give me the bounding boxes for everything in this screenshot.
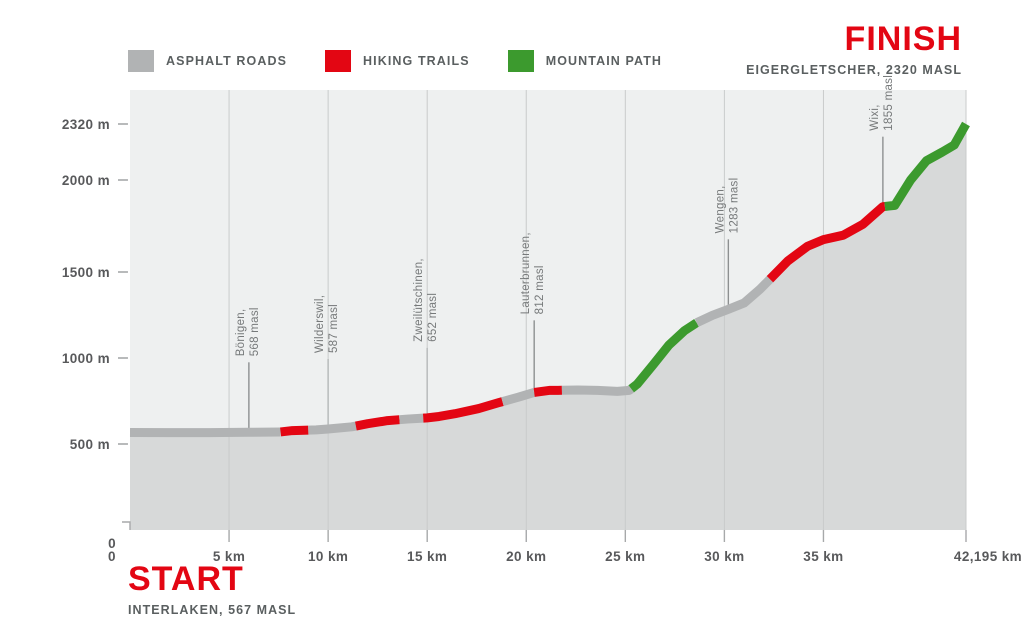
profile-segment-hiking bbox=[281, 430, 309, 432]
x-tick-label: 35 km bbox=[803, 549, 843, 564]
profile-segment-asphalt bbox=[399, 418, 423, 420]
poi-name: Bönigen, bbox=[235, 308, 247, 356]
elevation-profile-infographic: ASPHALT ROADS HIKING TRAILS MOUNTAIN PAT… bbox=[0, 0, 1024, 643]
x-tick-label: 25 km bbox=[605, 549, 645, 564]
profile-segment-asphalt bbox=[308, 426, 356, 430]
x-tick-label: 42,195 km bbox=[954, 549, 1022, 564]
y-tick-label: 2320 m bbox=[62, 117, 110, 132]
poi-name: Wilderswil, bbox=[314, 295, 326, 353]
elevation-chart: 0500 m1000 m1500 m2000 m2320 m 05 km10 k… bbox=[0, 0, 1024, 643]
x-axis: 05 km10 km15 km20 km25 km30 km35 km42,19… bbox=[108, 530, 1022, 564]
profile-segment-asphalt bbox=[562, 389, 631, 392]
x-tick-label: 5 km bbox=[213, 549, 245, 564]
x-tick-label: 15 km bbox=[407, 549, 447, 564]
y-tick-label: 1500 m bbox=[62, 265, 110, 280]
poi-elevation: 568 masl bbox=[249, 307, 261, 356]
x-tick-label: 10 km bbox=[308, 549, 348, 564]
poi-elevation: 1855 masl bbox=[883, 75, 895, 131]
x-tick-label: 20 km bbox=[506, 549, 546, 564]
poi-elevation: 652 masl bbox=[427, 293, 439, 342]
poi-name: Wixi, bbox=[869, 104, 881, 130]
y-axis: 0500 m1000 m1500 m2000 m2320 m bbox=[62, 117, 130, 551]
poi-name: Lauterbrunnen, bbox=[520, 232, 532, 314]
profile-segment-asphalt bbox=[130, 432, 281, 433]
x-tick-label: 30 km bbox=[704, 549, 744, 564]
poi-elevation: 1283 masl bbox=[728, 178, 740, 234]
poi-elevation: 812 masl bbox=[534, 265, 546, 314]
profile-segment-hiking bbox=[534, 390, 562, 392]
y-tick-label: 1000 m bbox=[62, 351, 110, 366]
poi-elevation: 587 masl bbox=[328, 304, 340, 353]
y-tick-label: 2000 m bbox=[62, 173, 110, 188]
poi-name: Zweilütschinen, bbox=[413, 258, 425, 342]
y-tick-label: 500 m bbox=[70, 437, 110, 452]
x-tick-label: 0 bbox=[108, 549, 116, 564]
poi-name: Wengen, bbox=[714, 185, 726, 233]
